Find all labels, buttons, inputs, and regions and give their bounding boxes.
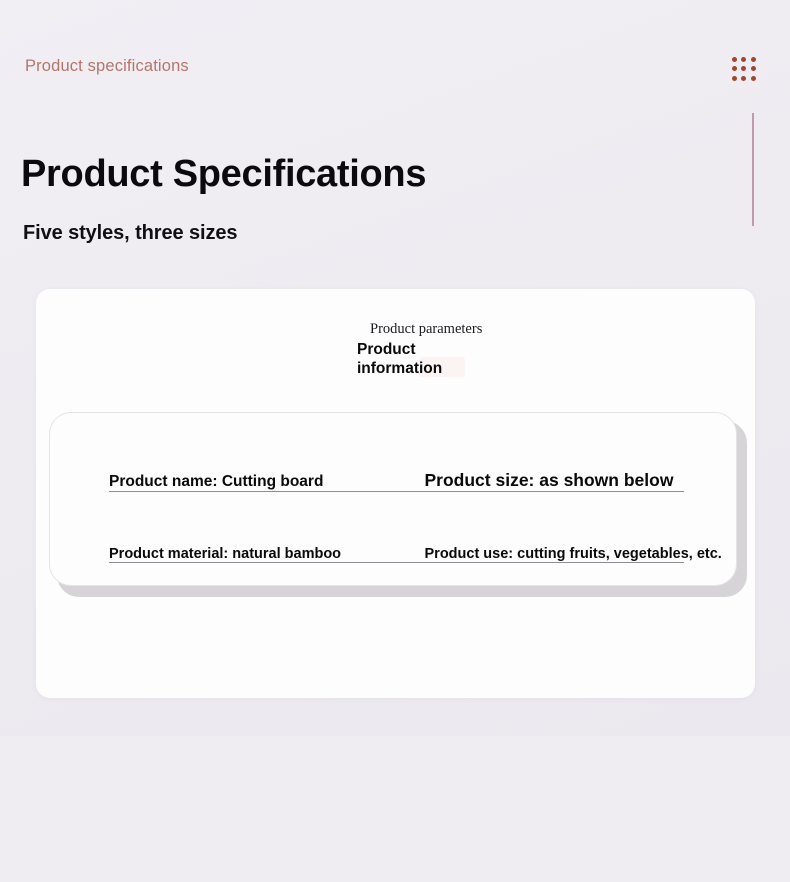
spec-product-use: Product use: cutting fruits, vegetables,…	[397, 546, 722, 562]
page-subtitle: Five styles, three sizes	[23, 222, 237, 245]
spec-product-size: Product size: as shown below	[397, 470, 685, 491]
spec-product-material: Product material: natural bamboo	[109, 546, 397, 562]
eyebrow-label: Product specifications	[25, 57, 189, 76]
dot-grid-dot	[741, 66, 746, 71]
dot-grid-dot	[741, 76, 746, 81]
dot-grid-dot	[732, 76, 737, 81]
row-divider	[109, 491, 684, 492]
product-specifications-page: Product specifications Product Specifica…	[0, 0, 790, 736]
product-parameters-panel: Product parameters Product information P…	[36, 289, 755, 698]
spec-card-wrapper: Product name: Cutting board Product size…	[49, 412, 747, 882]
accent-vertical-rule	[752, 113, 754, 226]
spec-card: Product name: Cutting board Product size…	[49, 412, 737, 586]
dot-grid-dot	[751, 66, 756, 71]
dot-grid-dot	[751, 76, 756, 81]
parameters-heading-block: Product parameters Product information	[357, 321, 587, 378]
dot-grid-dot	[732, 66, 737, 71]
table-row: Product name: Cutting board Product size…	[109, 443, 684, 491]
dot-grid-dot	[751, 57, 756, 62]
spec-product-name: Product name: Cutting board	[109, 473, 397, 491]
parameters-title-line-2: information	[357, 360, 442, 377]
spec-table: Product name: Cutting board Product size…	[109, 443, 684, 563]
table-row: Product material: natural bamboo Product…	[109, 514, 684, 562]
parameters-kicker: Product parameters	[370, 321, 587, 338]
parameters-title: Product information	[357, 341, 469, 378]
page-title: Product Specifications	[21, 153, 426, 196]
parameters-title-line-1: Product	[357, 341, 416, 358]
dot-grid-dot	[732, 57, 737, 62]
dot-grid-dot	[741, 57, 746, 62]
dot-grid-icon[interactable]	[731, 56, 757, 82]
row-divider	[109, 562, 684, 563]
